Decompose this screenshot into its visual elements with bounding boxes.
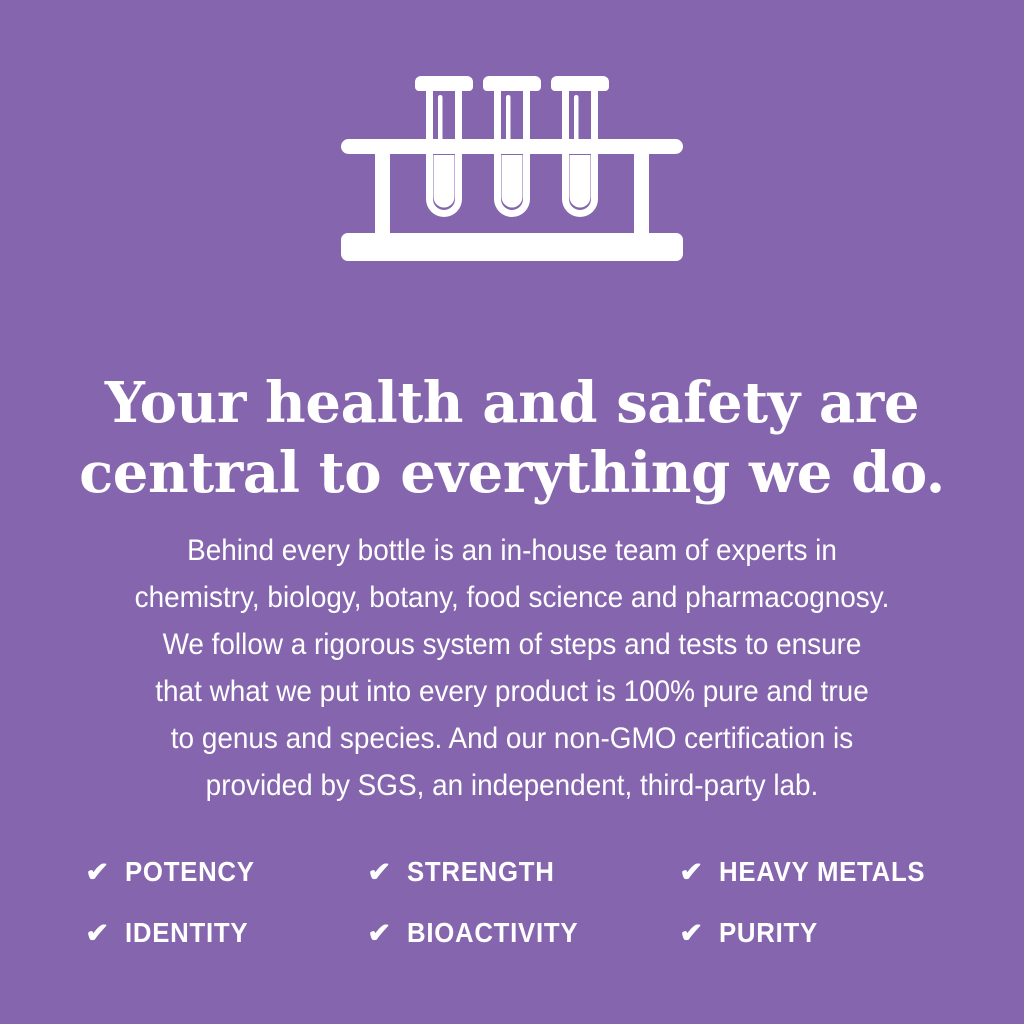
body-line-4: that what we put into every product is 1… xyxy=(103,668,921,715)
checklist-item-strength: ✔ STRENGTH xyxy=(368,856,680,888)
quality-promise-card: Your health and safety are central to ev… xyxy=(0,0,1024,1024)
check-icon: ✔ xyxy=(367,920,392,947)
rack-leg-left xyxy=(375,147,390,239)
headline-line-1: Your health and safety are xyxy=(60,368,964,438)
check-icon: ✔ xyxy=(85,859,110,886)
quality-test-checklist: ✔ POTENCY ✔ STRENGTH ✔ HEAVY METALS ✔ ID… xyxy=(86,856,966,978)
checklist-item-label: PURITY xyxy=(719,917,818,949)
checklist-row-1: ✔ POTENCY ✔ STRENGTH ✔ HEAVY METALS xyxy=(86,856,966,917)
body-paragraph: Behind every bottle is an in-house team … xyxy=(103,527,921,809)
checklist-item-identity: ✔ IDENTITY xyxy=(86,917,368,949)
rack-crossbar xyxy=(341,139,683,154)
check-icon: ✔ xyxy=(85,920,110,947)
checklist-row-2: ✔ IDENTITY ✔ BIOACTIVITY ✔ PURITY xyxy=(86,917,966,978)
test-tube-rack-icon xyxy=(0,62,1024,272)
checklist-item-label: POTENCY xyxy=(125,856,255,888)
page-title: Your health and safety are central to ev… xyxy=(60,368,964,508)
check-icon: ✔ xyxy=(679,920,704,947)
checklist-item-label: HEAVY METALS xyxy=(719,856,925,888)
checklist-item-potency: ✔ POTENCY xyxy=(86,856,368,888)
checklist-item-label: IDENTITY xyxy=(125,917,248,949)
body-line-5: to genus and species. And our non-GMO ce… xyxy=(103,715,921,762)
checklist-item-label: STRENGTH xyxy=(407,856,555,888)
checklist-item-heavy-metals: ✔ HEAVY METALS xyxy=(680,856,966,888)
body-line-1: Behind every bottle is an in-house team … xyxy=(103,527,921,574)
body-line-3: We follow a rigorous system of steps and… xyxy=(103,621,921,668)
rack-leg-right xyxy=(634,147,649,239)
checklist-item-bioactivity: ✔ BIOACTIVITY xyxy=(368,917,680,949)
rack-base xyxy=(341,233,683,261)
checklist-item-label: BIOACTIVITY xyxy=(407,917,578,949)
body-line-6: provided by SGS, an independent, third-p… xyxy=(103,762,921,809)
checklist-item-purity: ✔ PURITY xyxy=(680,917,966,949)
check-icon: ✔ xyxy=(367,859,392,886)
headline-line-2: central to everything we do. xyxy=(60,438,964,508)
check-icon: ✔ xyxy=(679,859,704,886)
body-line-2: chemistry, biology, botany, food science… xyxy=(103,574,921,621)
